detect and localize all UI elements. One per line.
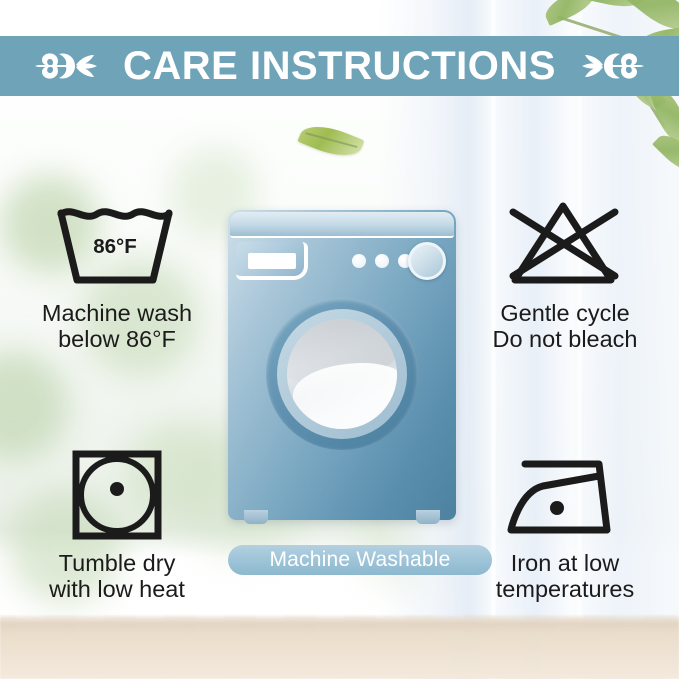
do-not-bleach-triangle-icon	[495, 196, 635, 292]
machine-door-ring	[277, 309, 407, 439]
fleur-de-lis-icon	[35, 44, 99, 88]
machine-button-row	[352, 254, 412, 268]
care-item-machine-wash: 86°F Machine wash below 86°F	[6, 196, 228, 353]
iron-low-heat-icon	[495, 446, 635, 542]
care-icon-wrapper	[451, 196, 679, 292]
machine-program-dial[interactable]	[408, 242, 446, 280]
care-item-label: Gentle cycle Do not bleach	[451, 300, 679, 353]
machine-washable-badge: Machine Washable	[228, 545, 492, 575]
banner-title: CARE INSTRUCTIONS	[123, 44, 556, 89]
care-item-do-not-bleach: Gentle cycle Do not bleach	[451, 196, 679, 353]
tumble-dry-low-icon	[62, 446, 172, 542]
machine-door	[266, 298, 418, 450]
machine-foot	[416, 510, 440, 524]
machine-body	[228, 210, 456, 520]
machine-button[interactable]	[375, 254, 389, 268]
machine-top-lid	[230, 212, 454, 238]
care-icon-wrapper	[6, 446, 228, 542]
machine-door-glass	[287, 319, 397, 429]
machine-button[interactable]	[352, 254, 366, 268]
care-item-tumble-dry: Tumble dry with low heat	[6, 446, 228, 603]
care-item-label: Machine wash below 86°F	[6, 300, 228, 353]
banner: CARE INSTRUCTIONS	[0, 36, 679, 96]
wash-tub-icon: 86°F	[47, 196, 187, 292]
wood-table-surface	[0, 615, 679, 679]
machine-feet	[228, 510, 456, 528]
machine-control-panel	[236, 242, 308, 280]
machine-foot	[244, 510, 268, 524]
fleur-de-lis-icon	[580, 44, 644, 88]
washing-machine-illustration	[228, 210, 456, 530]
care-item-iron: Iron at low temperatures	[451, 446, 679, 603]
care-instructions-graphic: CARE INSTRUCTIONS 86°F Machine wash belo…	[0, 0, 679, 679]
machine-display	[248, 253, 296, 269]
leaf-cluster	[539, 0, 679, 196]
care-item-label: Tumble dry with low heat	[6, 550, 228, 603]
care-icon-wrapper	[451, 446, 679, 542]
care-icon-wrapper: 86°F	[6, 196, 228, 292]
wash-temperature-text: 86°F	[93, 235, 137, 258]
